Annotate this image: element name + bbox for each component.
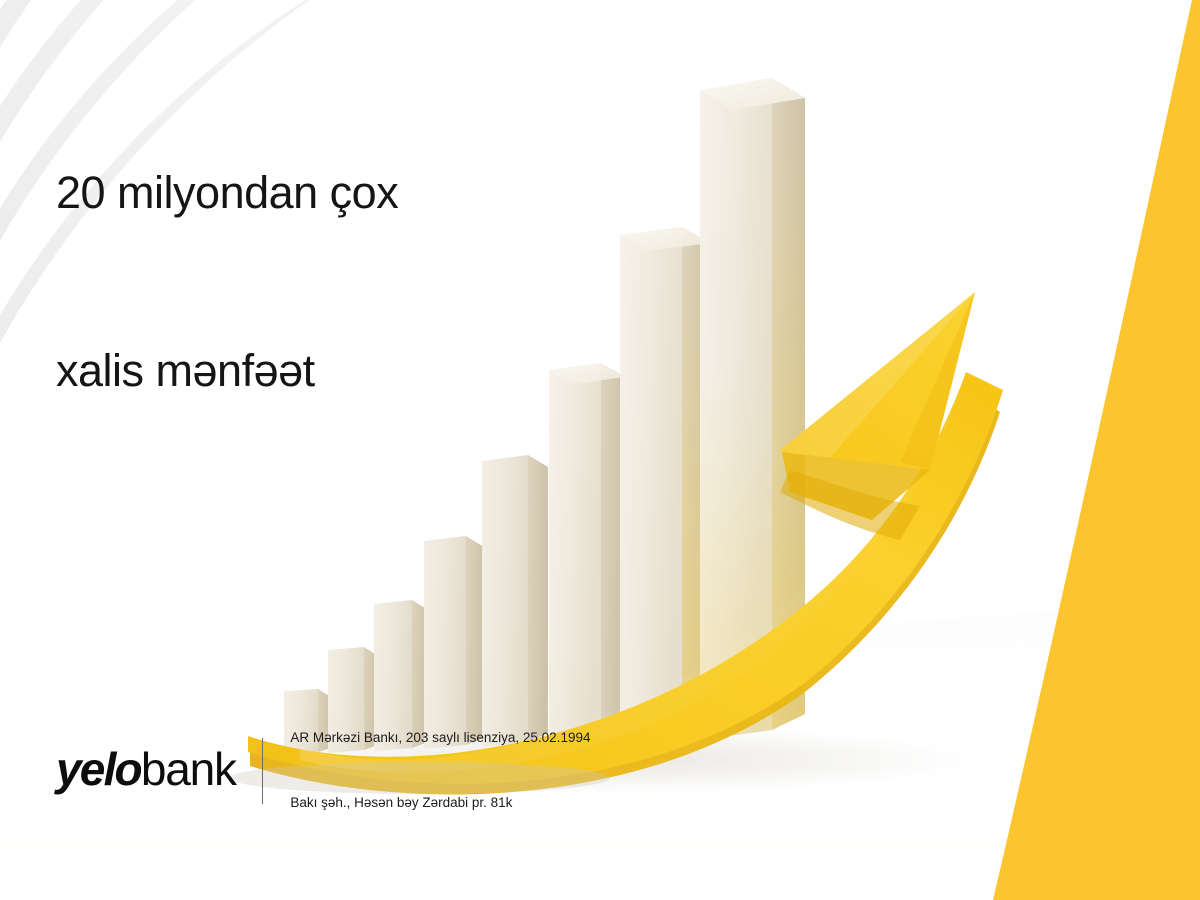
- headline-line-2: xalis mənfəət: [56, 341, 398, 400]
- yelobank-logo[interactable]: yelobank: [56, 746, 262, 792]
- legal-line-2: Bakı şəh., Həsən bəy Zərdabi pr. 81k: [290, 792, 590, 814]
- poster-canvas: 20 milyondan çox xalis mənfəət yelobank …: [0, 0, 1200, 900]
- footer-bar: yelobank AR Mərkəzi Bankı, 203 saylı lis…: [56, 683, 590, 858]
- headline-line-1: 20 milyondan çox: [56, 163, 398, 222]
- page-title: 20 milyondan çox xalis mənfəət: [56, 44, 398, 519]
- legal-line-1: AR Mərkəzi Bankı, 203 saylı lisenziya, 2…: [290, 727, 590, 749]
- logo-wordmark-bold: yelo: [56, 743, 141, 795]
- legal-disclaimer: AR Mərkəzi Bankı, 203 saylı lisenziya, 2…: [263, 683, 590, 858]
- logo-wordmark-light: bank: [141, 743, 236, 795]
